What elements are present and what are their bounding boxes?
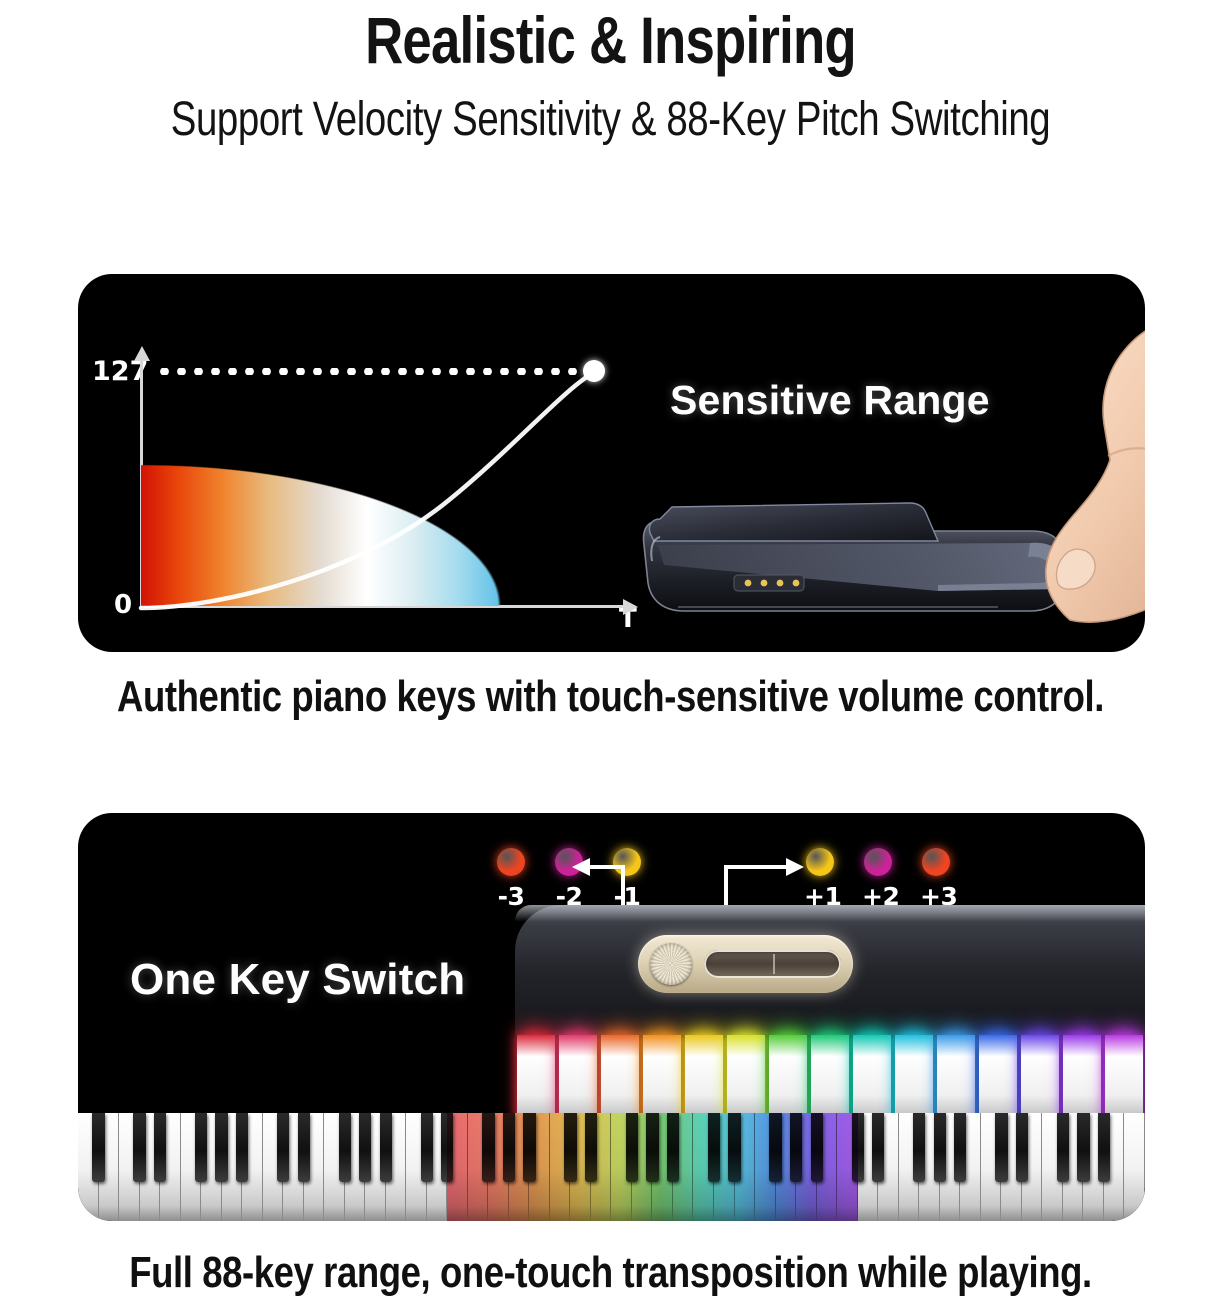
- rocker-divider: [773, 954, 775, 974]
- piano-black-key[interactable]: [154, 1113, 166, 1182]
- chart-y-axis-arrow-icon: [134, 346, 150, 361]
- sensitive-range-label: Sensitive Range: [670, 377, 990, 424]
- piano-black-key[interactable]: [1098, 1113, 1110, 1182]
- piano-black-key[interactable]: [236, 1113, 248, 1182]
- chart-x-axis-arrow-icon: [623, 599, 638, 615]
- pointing-finger-icon: [958, 296, 1145, 626]
- page-subheadline: Support Velocity Sensitivity & 88-Key Pi…: [122, 92, 1099, 147]
- piano-keyboard: [78, 1113, 1145, 1221]
- device-body: [515, 905, 1145, 1035]
- rainbow-range-overlay: [447, 1113, 857, 1221]
- piano-black-key[interactable]: [934, 1113, 946, 1182]
- piano-black-key[interactable]: [872, 1113, 884, 1182]
- control-module: [638, 935, 853, 993]
- chart-endpoint-marker: [583, 360, 605, 382]
- piano-black-key[interactable]: [913, 1113, 925, 1182]
- piano-black-key[interactable]: [195, 1113, 207, 1182]
- page-headline: Realistic & Inspiring: [122, 2, 1099, 78]
- sensitivity-panel: 127 0 T Sensitive Range: [78, 274, 1145, 652]
- rotary-knob-icon[interactable]: [650, 943, 692, 985]
- chart-y-min-label: 0: [114, 590, 132, 620]
- piano-black-key[interactable]: [298, 1113, 310, 1182]
- piano-black-key[interactable]: [995, 1113, 1007, 1182]
- sensitivity-caption: Authentic piano keys with touch-sensitiv…: [104, 672, 1117, 722]
- rocker-switch-icon[interactable]: [704, 950, 841, 978]
- velocity-chart: 127 0 T: [78, 274, 678, 652]
- piano-black-key[interactable]: [380, 1113, 392, 1182]
- transpose-panel: One Key Switch -3-2-1 +1+2+3: [78, 813, 1145, 1221]
- transpose-caption: Full 88-key range, one-touch transpositi…: [104, 1248, 1117, 1298]
- piano-black-key[interactable]: [1016, 1113, 1028, 1182]
- piano-black-key[interactable]: [339, 1113, 351, 1182]
- device-gloss-highlight: [515, 905, 1145, 921]
- piano-black-key[interactable]: [421, 1113, 433, 1182]
- piano-black-key[interactable]: [92, 1113, 104, 1182]
- piano-black-key[interactable]: [1077, 1113, 1089, 1182]
- piano-black-key[interactable]: [133, 1113, 145, 1182]
- piano-black-key[interactable]: [954, 1113, 966, 1182]
- piano-black-key[interactable]: [359, 1113, 371, 1182]
- chart-gradient-area: [141, 371, 593, 606]
- piano-black-key[interactable]: [215, 1113, 227, 1182]
- piano-white-key[interactable]: [1124, 1113, 1145, 1221]
- piano-black-key[interactable]: [277, 1113, 289, 1182]
- piano-black-key[interactable]: [1057, 1113, 1069, 1182]
